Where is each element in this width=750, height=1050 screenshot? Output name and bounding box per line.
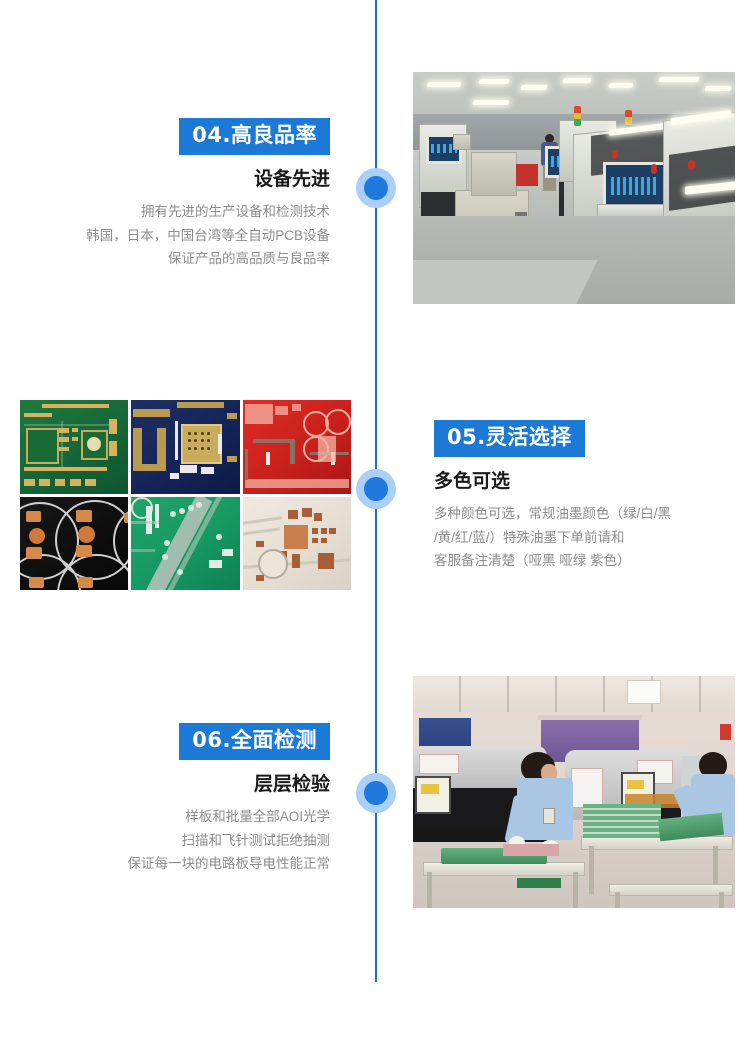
section-06-desc-line-2: 扫描和飞针测试拒绝抽测 [0, 829, 330, 853]
pcb-color-grid [20, 400, 351, 590]
timeline-dot-3 [356, 773, 396, 813]
pcb-image-black-led [20, 497, 128, 591]
section-05-desc-line-3: 客服备注清楚（哑黑 哑绿 紫色） [434, 549, 734, 573]
section-04-description: 拥有先进的生产设备和检测技术 韩国，日本，中国台湾等全自动PCB设备 保证产品的… [0, 200, 330, 271]
section-04-desc-line-2: 韩国，日本，中国台湾等全自动PCB设备 [0, 224, 330, 248]
section-05-badge-number: 05. [447, 425, 486, 449]
section-06-badge-text: 全面检测 [231, 729, 317, 752]
aoi-window-blind [419, 718, 471, 748]
section-06-badge: 06.全面检测 [179, 723, 330, 760]
section-04-desc-line-1: 拥有先进的生产设备和检测技术 [0, 200, 330, 224]
section-05: 05.灵活选择 多色可选 多种颜色可选，常规油墨颜色（绿/白/黑 /黄/红/蓝/… [434, 420, 734, 573]
section-04-desc-line-3: 保证产品的高品质与良品率 [0, 247, 330, 271]
pcb-image-blue-module [131, 400, 239, 494]
section-04: 04.高良品率 设备先进 拥有先进的生产设备和检测技术 韩国，日本，中国台湾等全… [0, 118, 330, 271]
section-05-badge: 05.灵活选择 [434, 420, 585, 457]
section-04-badge-text: 高良品率 [231, 124, 317, 147]
pcb-image-white-closeup [243, 497, 351, 591]
section-05-description: 多种颜色可选，常规油墨颜色（绿/白/黑 /黄/红/蓝/）特殊油墨下单前请和 客服… [434, 502, 734, 573]
timeline-dot-core [364, 477, 388, 501]
section-04-badge: 04.高良品率 [179, 118, 330, 155]
section-06-description: 样板和批量全部AOI光学 扫描和飞针测试拒绝抽测 保证每一块的电路板导电性能正常 [0, 805, 330, 876]
section-04-badge-number: 04. [192, 123, 231, 147]
section-05-desc-line-1: 多种颜色可选，常规油墨颜色（绿/白/黑 [434, 502, 734, 526]
section-06-subtitle: 层层检验 [0, 774, 330, 797]
timeline-dot-core [364, 781, 388, 805]
section-06-desc-line-1: 样板和批量全部AOI光学 [0, 805, 330, 829]
section-06: 06.全面检测 层层检验 样板和批量全部AOI光学 扫描和飞针测试拒绝抽测 保证… [0, 723, 330, 876]
timeline-dot-2 [356, 469, 396, 509]
aoi-inspection-photo [413, 676, 735, 908]
factory-photo [413, 72, 735, 304]
section-06-badge-number: 06. [192, 728, 231, 752]
section-05-subtitle: 多色可选 [434, 471, 734, 494]
timeline-dot-core [364, 176, 388, 200]
section-05-badge-text: 灵活选择 [486, 426, 572, 449]
timeline-dot-1 [356, 168, 396, 208]
pcb-image-green [20, 400, 128, 494]
section-06-desc-line-3: 保证每一块的电路板导电性能正常 [0, 852, 330, 876]
pcb-image-teal [131, 497, 239, 591]
product-feature-page: 04.高良品率 设备先进 拥有先进的生产设备和检测技术 韩国，日本，中国台湾等全… [0, 0, 750, 1050]
section-05-desc-line-2: /黄/红/蓝/）特殊油墨下单前请和 [434, 526, 734, 550]
section-04-subtitle: 设备先进 [0, 169, 330, 192]
pcb-image-red [243, 400, 351, 494]
